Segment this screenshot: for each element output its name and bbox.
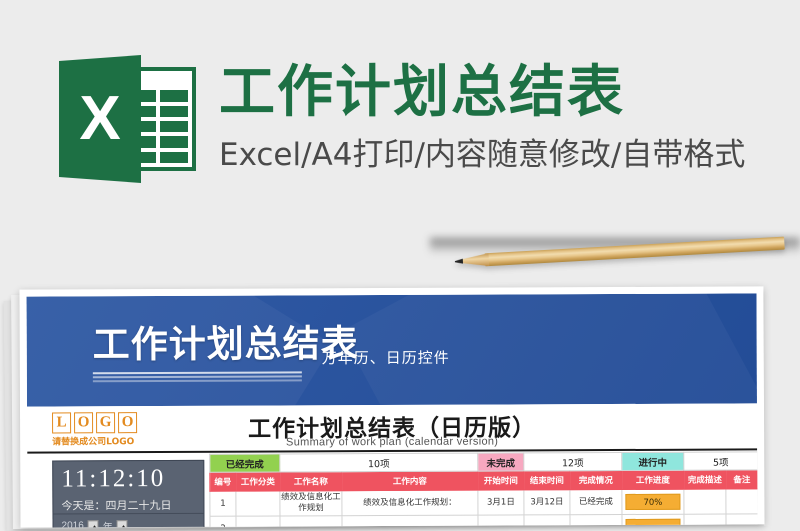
work-plan-table: 已经完成 10项 未完成 12项 进行中 5项 编号 工作分类 工作名称 工作内…	[209, 451, 757, 527]
clock-divider	[53, 513, 204, 515]
banner-title-wrap: 工作计划总结表	[93, 325, 359, 363]
clock-panel: 11:12:10 今天是：四月二十九日 2016 年	[52, 460, 204, 528]
cell-start: 3月1日	[478, 490, 524, 515]
banner-underline	[93, 371, 302, 384]
column-header-content: 工作内容	[342, 471, 478, 491]
banner-title: 工作计划总结表	[93, 325, 359, 363]
column-header-end: 结束时间	[524, 471, 570, 490]
table-row[interactable]: 1 绩效及信息化工作规划 绩效及信息化工作规划： 3月1日 3月12日 已经完成…	[210, 489, 758, 516]
clock-date: 今天是：四月二十九日	[61, 497, 203, 514]
promo-title: 工作计划总结表	[219, 64, 745, 123]
progress-bar: 70%	[625, 494, 680, 510]
column-header-progress: 工作进度	[622, 470, 684, 489]
spinner-down-button[interactable]	[117, 520, 128, 527]
banner-subtitle: 万年历、日历控件	[322, 347, 450, 369]
cell-no: 1	[210, 491, 236, 516]
worksheet-preview: 工作计划总结表 万年历、日历控件 L O G O 请替换成公司LOGO 工作计划…	[19, 286, 764, 527]
cell-content: 绩效及信息化工作规划：	[342, 490, 478, 516]
pencil-lead	[455, 259, 463, 264]
worksheet-header: L O G O 请替换成公司LOGO 工作计划总结表（日历版） Summary …	[27, 403, 757, 452]
column-header-no: 编号	[210, 472, 236, 491]
status-summary-row: 已经完成 10项 未完成 12项 进行中 5项	[210, 452, 758, 472]
promo-text-block: 工作计划总结表 Excel/A4打印/内容随意修改/自带格式	[219, 64, 745, 174]
work-plan-table-zone: 已经完成 10项 未完成 12项 进行中 5项 编号 工作分类 工作名称 工作内…	[209, 451, 757, 527]
excel-logo-icon: X	[57, 55, 205, 183]
status-count-done: 10项	[280, 453, 478, 472]
cell-progress: 70%	[622, 489, 684, 514]
column-header-status: 完成情况	[570, 470, 622, 489]
spinner-value: 2016	[61, 520, 83, 527]
column-header-name: 工作名称	[280, 472, 342, 491]
status-count-progress: 5项	[684, 452, 758, 470]
excel-logo-letter: X	[59, 55, 141, 183]
spinner-up-button[interactable]	[88, 520, 99, 527]
progress-bar	[626, 519, 681, 528]
cell-status: 已经完成	[570, 489, 622, 514]
cell-category	[236, 491, 280, 516]
worksheet-body: L O G O 请替换成公司LOGO 工作计划总结表（日历版） Summary …	[27, 403, 757, 452]
status-count-undone: 12项	[524, 452, 622, 470]
column-header-category: 工作分类	[236, 472, 280, 491]
worksheet-subtitle: Summary of work plan (calendar version)	[27, 434, 757, 449]
status-label-undone: 未完成	[478, 453, 524, 471]
cell-description	[684, 489, 726, 514]
column-header-remark: 备注	[726, 470, 758, 489]
promo-header: X 工作计划总结表 Excel/A4打印/内容随意修改/自带格式	[0, 0, 800, 250]
promo-subtitle: Excel/A4打印/内容随意修改/自带格式	[219, 129, 745, 174]
table-header-row: 编号 工作分类 工作名称 工作内容 开始时间 结束时间 完成情况 工作进度 完成…	[210, 470, 758, 491]
status-label-progress: 进行中	[622, 452, 684, 470]
year-spinner[interactable]: 2016 年	[61, 518, 127, 527]
status-label-done: 已经完成	[210, 454, 280, 472]
promo-header-content: X 工作计划总结表 Excel/A4打印/内容随意修改/自带格式	[57, 55, 745, 183]
cell-end: 3月12日	[524, 490, 570, 515]
clock-time: 11:12:10	[61, 465, 203, 494]
cell-remark	[726, 489, 758, 514]
column-header-start: 开始时间	[478, 471, 524, 490]
worksheet-banner: 工作计划总结表 万年历、日历控件	[27, 293, 757, 406]
column-header-description: 完成描述	[684, 470, 726, 489]
cell-name: 绩效及信息化工作规划	[280, 491, 342, 516]
spinner-value-2: 年	[103, 518, 113, 527]
page-gutter	[764, 288, 800, 526]
pencil-tip	[459, 253, 490, 268]
